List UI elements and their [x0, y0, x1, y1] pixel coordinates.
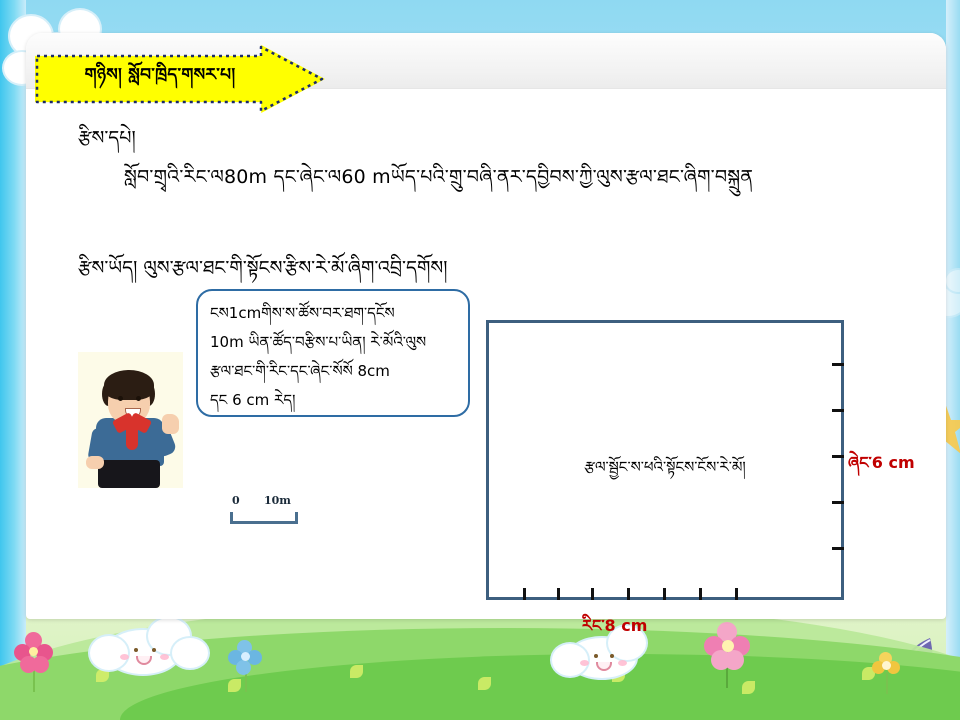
map-scale-bar: 0 10m [228, 494, 300, 528]
tick-mark-horizontal [523, 588, 526, 600]
flower-yellow-small [872, 652, 902, 694]
section-banner-label: གཉིས། སློབ་ཁྲིད་གསར་པ། [35, 45, 285, 113]
flower-pink-left [14, 632, 54, 692]
scale-bar-right-label: 10m [264, 494, 291, 507]
slide-canvas: གཉིས། སློབ་ཁྲིད་གསར་པ། རྩིས་དཔེ། སློབ་གྲ… [0, 0, 960, 720]
bubble-line-4: དང 6 cm རེད། [210, 384, 295, 426]
tick-mark-horizontal [627, 588, 630, 600]
cloud-decoration-bottom [84, 612, 214, 682]
tick-mark-vertical [832, 501, 844, 504]
figure-inner-label: རྩལ་སྦྱོང་ས་ཕའི་སྟོངས་ངོས་རེ་མོ། [584, 451, 745, 493]
grass-dot [350, 665, 363, 678]
tick-mark-vertical [832, 363, 844, 366]
tick-mark-vertical [832, 547, 844, 550]
right-blue-band [946, 0, 960, 720]
problem-statement: སློབ་གྲྭའི་རིང་ལ80m དང་ཞེང་ལ60 mཡོད་པའི་… [124, 155, 753, 209]
figure-width-label: རིང་8 cm [582, 608, 647, 653]
tick-mark-vertical [832, 409, 844, 412]
left-blue-band [0, 0, 26, 720]
tick-mark-horizontal [557, 588, 560, 600]
lesson-heading: རྩིས་དཔེ། [78, 116, 136, 170]
speech-bubble: ངས1cmགིས་ས་ཚོས་བར་ཐག་དངོས 10m ཡིན་ཚོད་བར… [196, 289, 470, 417]
scale-bar-bracket [230, 512, 298, 524]
flower-pink-center [704, 622, 750, 688]
rectangle-figure: རྩལ་སྦྱོང་ས་ཕའི་སྟོངས་ངོས་རེ་མོ། [486, 320, 844, 600]
flower-blue [228, 640, 264, 692]
tick-mark-vertical [832, 455, 844, 458]
tick-mark-horizontal [591, 588, 594, 600]
student-boy-illustration [78, 352, 183, 488]
tick-mark-horizontal [735, 588, 738, 600]
figure-height-label: ཞེང་6 cm [848, 445, 915, 490]
grass-dot [478, 677, 491, 690]
tick-mark-horizontal [699, 588, 702, 600]
tick-mark-horizontal [663, 588, 666, 600]
scale-bar-left-label: 0 [232, 494, 240, 507]
